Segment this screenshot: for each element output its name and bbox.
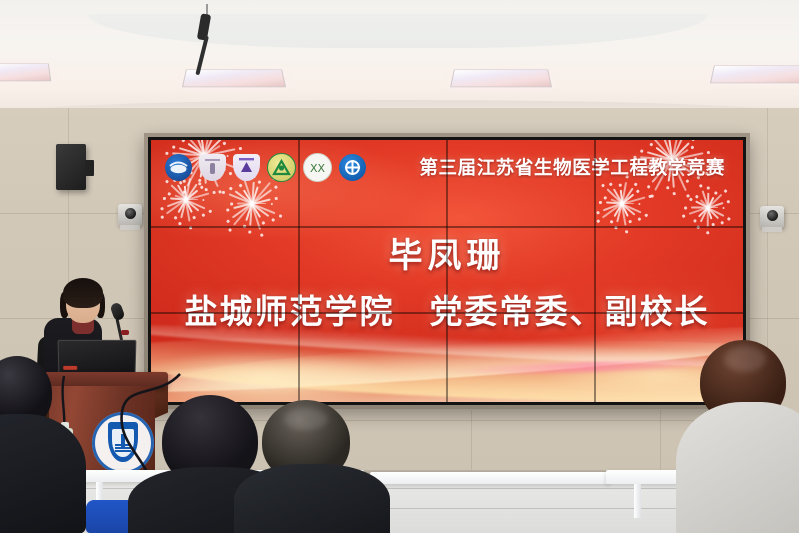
- camera-left-base: [120, 225, 140, 230]
- slide-event-title: 第三届江苏省生物医学工程教学竞赛: [151, 154, 725, 180]
- ceiling: [0, 0, 799, 112]
- wall-seam-v4: [660, 410, 661, 472]
- camera-left-icon: [118, 204, 142, 226]
- attendee-right-hair-sheen: [724, 346, 766, 372]
- panel-seam-v1: [298, 140, 300, 402]
- camera-right-lens: [767, 210, 778, 221]
- panel-seam-h2: [151, 312, 743, 314]
- panel-seam-v2: [446, 140, 448, 402]
- camera-right-icon: [760, 206, 784, 228]
- ceiling-light-4: [710, 65, 799, 83]
- microphone-ring: [121, 330, 129, 335]
- attendee-center-right-body: [234, 464, 390, 533]
- speaker-glasses-icon: [70, 298, 96, 304]
- desk-middle: [370, 472, 610, 484]
- panel-seam-h1: [151, 226, 743, 228]
- ceiling-light-1: [0, 63, 51, 81]
- wall-seam-v3: [471, 410, 472, 472]
- camera-right-base: [762, 227, 782, 232]
- ceiling-light-3: [450, 69, 552, 87]
- attendee-center-right-hair-sheen: [284, 408, 328, 430]
- attendee-right-body: [676, 402, 799, 533]
- desk-leg-b: [634, 484, 641, 518]
- wall-speaker: [56, 144, 86, 190]
- ceiling-band: [88, 14, 708, 48]
- conference-hall-photo: XX 第三届江苏省生物医学工程教学竞赛 毕凤珊 盐城师范学院 党委常委、副校长: [0, 0, 799, 533]
- camera-left-lens: [125, 208, 136, 219]
- panel-seam-v3: [594, 140, 596, 402]
- video-wall-screen[interactable]: XX 第三届江苏省生物医学工程教学竞赛 毕凤珊 盐城师范学院 党委常委、副校长: [151, 140, 743, 402]
